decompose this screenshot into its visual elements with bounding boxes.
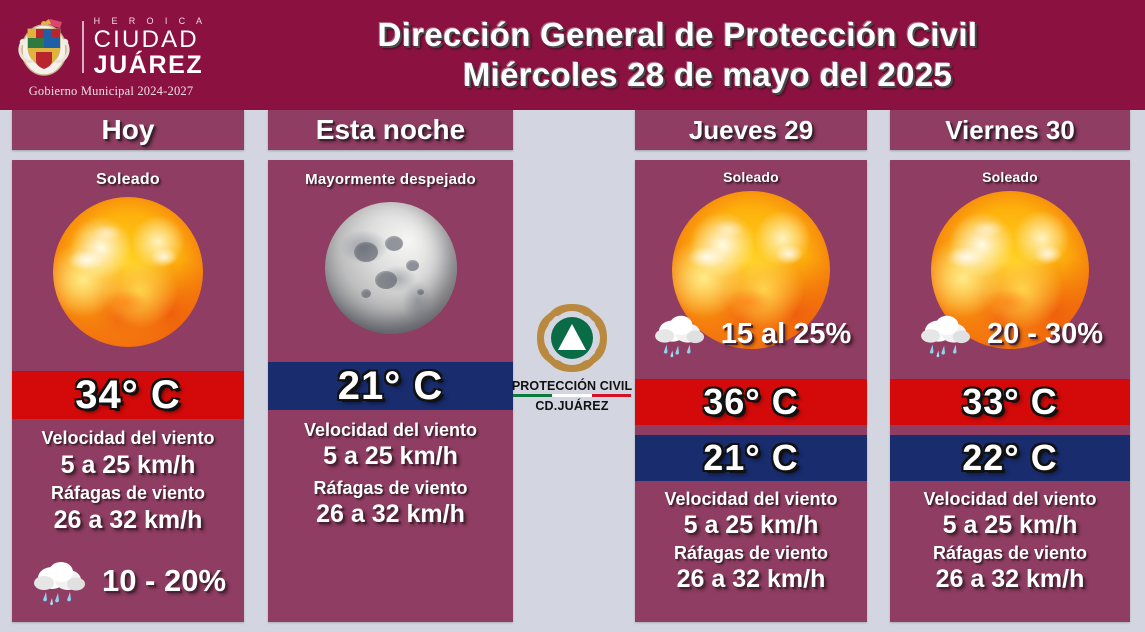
low-temp-band: 21° C xyxy=(635,435,867,481)
card-title: Jueves 29 xyxy=(689,115,813,146)
high-temp-value: 34° C xyxy=(75,373,181,418)
card-body: Soleado 15 al 25% xyxy=(635,160,867,622)
sun-icon xyxy=(53,197,203,347)
forecast-card-hoy[interactable]: Hoy Soleado 34° C Velocidad del viento 5… xyxy=(12,110,244,622)
rain-cloud-icon xyxy=(30,556,92,606)
gobierno-municipal-label: Gobierno Municipal 2024-2027 xyxy=(29,84,194,99)
wind-speed-value: 5 a 25 km/h xyxy=(890,511,1130,540)
low-temp-value: 21° C xyxy=(703,437,798,479)
forecast-card-viernes-30[interactable]: Viernes 30 Soleado xyxy=(890,110,1130,622)
card-title-banner: Jueves 29 xyxy=(635,110,867,150)
wind-gusts-label: Ráfagas de viento xyxy=(635,543,867,564)
wind-speed-label: Velocidad del viento xyxy=(12,428,244,449)
rain-chance-row: 10 - 20% xyxy=(12,556,244,606)
page-title: Dirección General de Protección Civil xyxy=(378,15,978,55)
wind-gusts-label: Ráfagas de viento xyxy=(12,483,244,504)
rain-chance-row: 15 al 25% xyxy=(635,310,867,358)
wind-speed-value: 5 a 25 km/h xyxy=(268,442,513,471)
forecast-board: Hoy Soleado 34° C Velocidad del viento 5… xyxy=(0,110,1145,632)
card-title: Viernes 30 xyxy=(945,115,1075,146)
low-temp-value: 22° C xyxy=(962,437,1057,479)
logo-divider xyxy=(82,21,84,73)
municipal-logo-block: H E R O I C A CIUDAD JUÁREZ Gobierno Mun… xyxy=(0,0,222,110)
rain-chance-value: 15 al 25% xyxy=(721,318,852,351)
wind-gusts-value: 26 a 32 km/h xyxy=(890,565,1130,594)
wind-speed-label: Velocidad del viento xyxy=(268,420,513,441)
wind-gusts-value: 26 a 32 km/h xyxy=(12,506,244,535)
low-temp-value: 21° C xyxy=(338,364,444,409)
juarez-label: JUÁREZ xyxy=(94,53,207,78)
wind-gusts-label: Ráfagas de viento xyxy=(890,543,1130,564)
wind-speed-value: 5 a 25 km/h xyxy=(12,451,244,480)
wind-gusts-label: Ráfagas de viento xyxy=(268,478,513,499)
logo-wordmark: H E R O I C A CIUDAD JUÁREZ xyxy=(94,17,207,78)
wind-speed-label: Velocidad del viento xyxy=(635,489,867,510)
heroica-label: H E R O I C A xyxy=(94,17,207,26)
card-condition: Soleado xyxy=(890,160,1130,185)
wind-speed-value: 5 a 25 km/h xyxy=(635,511,867,540)
rain-cloud-icon xyxy=(917,310,977,358)
proteccion-civil-emblem: PROTECCIÓN CIVIL CD.JUÁREZ xyxy=(513,300,631,413)
wind-gusts-value: 26 a 32 km/h xyxy=(268,500,513,529)
emblem-name-label: PROTECCIÓN CIVIL xyxy=(512,379,632,393)
page-date: Miércoles 28 de mayo del 2025 xyxy=(463,55,952,95)
rain-cloud-icon xyxy=(651,310,711,358)
high-temp-band: 33° C xyxy=(890,379,1130,425)
proteccion-civil-triangle-emblem-icon xyxy=(531,300,613,376)
header-title-block: Dirección General de Protección Civil Mi… xyxy=(222,0,1145,110)
low-temp-band: 21° C xyxy=(268,362,513,410)
low-temp-band: 22° C xyxy=(890,435,1130,481)
emblem-city-label: CD.JUÁREZ xyxy=(535,399,608,413)
rain-chance-value: 10 - 20% xyxy=(102,563,226,599)
card-title: Hoy xyxy=(102,114,155,146)
card-title-banner: Esta noche xyxy=(268,110,513,150)
rain-chance-value: 20 - 30% xyxy=(987,318,1103,351)
card-title-banner: Hoy xyxy=(12,110,244,150)
high-temp-value: 36° C xyxy=(703,381,798,423)
wind-gusts-value: 26 a 32 km/h xyxy=(635,565,867,594)
juarez-coat-of-arms-icon xyxy=(16,16,72,78)
card-body: Soleado 34° C Velocidad del viento 5 a 2… xyxy=(12,160,244,622)
card-title: Esta noche xyxy=(316,114,465,146)
card-body: Soleado 20 - 30% xyxy=(890,160,1130,622)
high-temp-band: 34° C xyxy=(12,371,244,419)
card-condition: Soleado xyxy=(635,160,867,185)
ciudad-label: CIUDAD xyxy=(94,28,207,52)
high-temp-value: 33° C xyxy=(962,381,1057,423)
forecast-card-jueves-29[interactable]: Jueves 29 Soleado xyxy=(635,110,867,622)
wind-speed-label: Velocidad del viento xyxy=(890,489,1130,510)
moon-icon xyxy=(325,202,457,334)
mexican-flag-rule xyxy=(513,394,631,397)
card-condition: Soleado xyxy=(12,160,244,189)
high-temp-band: 36° C xyxy=(635,379,867,425)
card-condition: Mayormente despejado xyxy=(268,160,513,188)
forecast-card-esta-noche[interactable]: Esta noche Mayormente despejado 21° C Ve… xyxy=(268,110,513,622)
card-body: Mayormente despejado 21° C Velocidad del… xyxy=(268,160,513,622)
page-header: H E R O I C A CIUDAD JUÁREZ Gobierno Mun… xyxy=(0,0,1145,110)
card-title-banner: Viernes 30 xyxy=(890,110,1130,150)
rain-chance-row: 20 - 30% xyxy=(890,310,1130,358)
